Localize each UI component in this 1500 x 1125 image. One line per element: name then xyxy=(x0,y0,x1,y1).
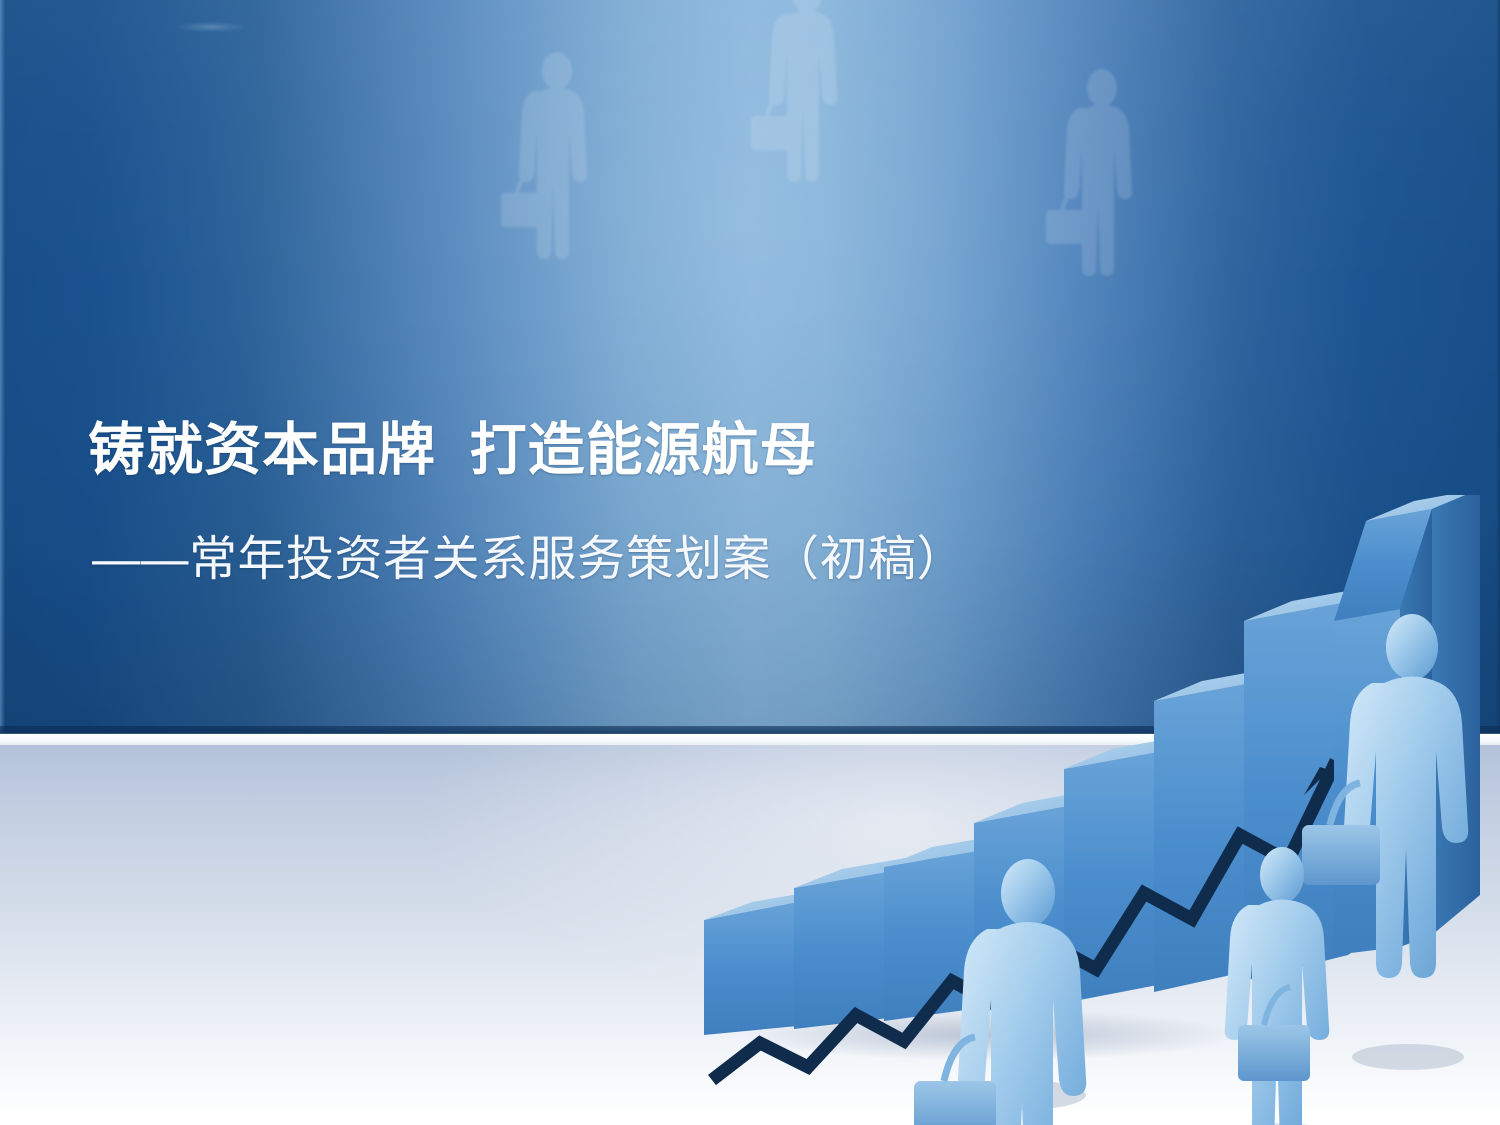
page-subtitle: ——常年投资者关系服务策划案（初稿） xyxy=(92,530,965,590)
title-slide: 铸就资本品牌 打造能源航母 ——常年投资者关系服务策划案（初稿） xyxy=(0,0,1500,1125)
ghost-businessman-center-icon xyxy=(745,0,875,228)
faint-watermark xyxy=(178,22,244,32)
ghost-businessman-right-icon xyxy=(1040,62,1170,322)
page-title: 铸就资本品牌 打造能源航母 xyxy=(88,418,818,484)
ghost-businessman-left-icon xyxy=(495,45,625,305)
